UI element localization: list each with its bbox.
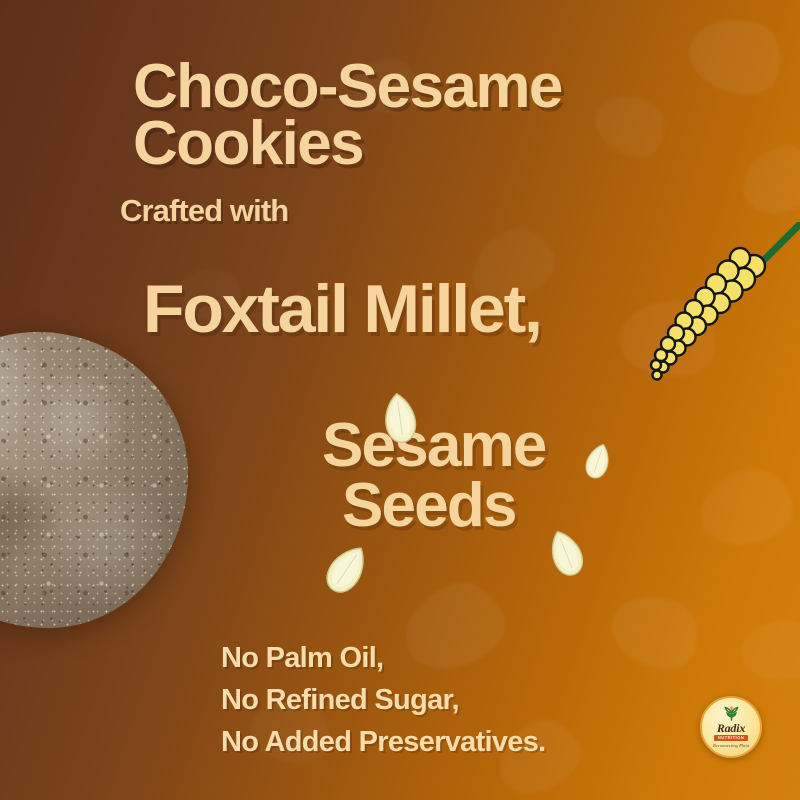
background-blob-2: [735, 140, 800, 221]
sesame-seed-2: [568, 436, 629, 486]
ingredient-foxtail-millet: Foxtail Millet,: [143, 270, 541, 348]
benefit-line-3: No Added Preservatives.: [221, 722, 546, 764]
cookie-image: [0, 332, 188, 628]
logo-tagline: Reconnecting Plant: [713, 744, 749, 749]
logo-subtitle: NUTRITION: [714, 735, 748, 741]
wheat-plant-icon: [723, 706, 740, 721]
cookie-texture: [0, 332, 188, 628]
crafted-with-label: Crafted with: [120, 193, 288, 229]
foxtail-millet-sprig-icon: [648, 222, 800, 392]
ingredient-sesame-seeds: Sesame Seeds: [322, 416, 546, 536]
logo-brand-name: Radix: [717, 722, 745, 734]
sesame-seed-1: [379, 390, 422, 447]
background-blob-13: [739, 616, 800, 683]
background-blob-8: [601, 580, 711, 681]
sesame-line-2: Seeds: [342, 476, 546, 536]
benefits-list: No Palm Oil,No Refined Sugar,No Added Pr…: [221, 638, 546, 763]
benefit-line-2: No Refined Sugar,: [221, 680, 546, 722]
title-line-2: Cookies: [133, 109, 363, 178]
sesame-seed-3: [316, 536, 378, 601]
sesame-seed-4: [541, 523, 591, 582]
promo-poster: Choco-Sesame Cookies Crafted with Foxtai…: [0, 0, 800, 800]
brand-logo-badge[interactable]: Radix NUTRITION Reconnecting Plant: [700, 696, 762, 758]
page-title: Choco-Sesame Cookies: [133, 58, 733, 172]
background-blob-9: [694, 463, 797, 552]
benefit-line-1: No Palm Oil,: [221, 638, 546, 680]
sesame-line-1: Sesame: [322, 416, 546, 476]
